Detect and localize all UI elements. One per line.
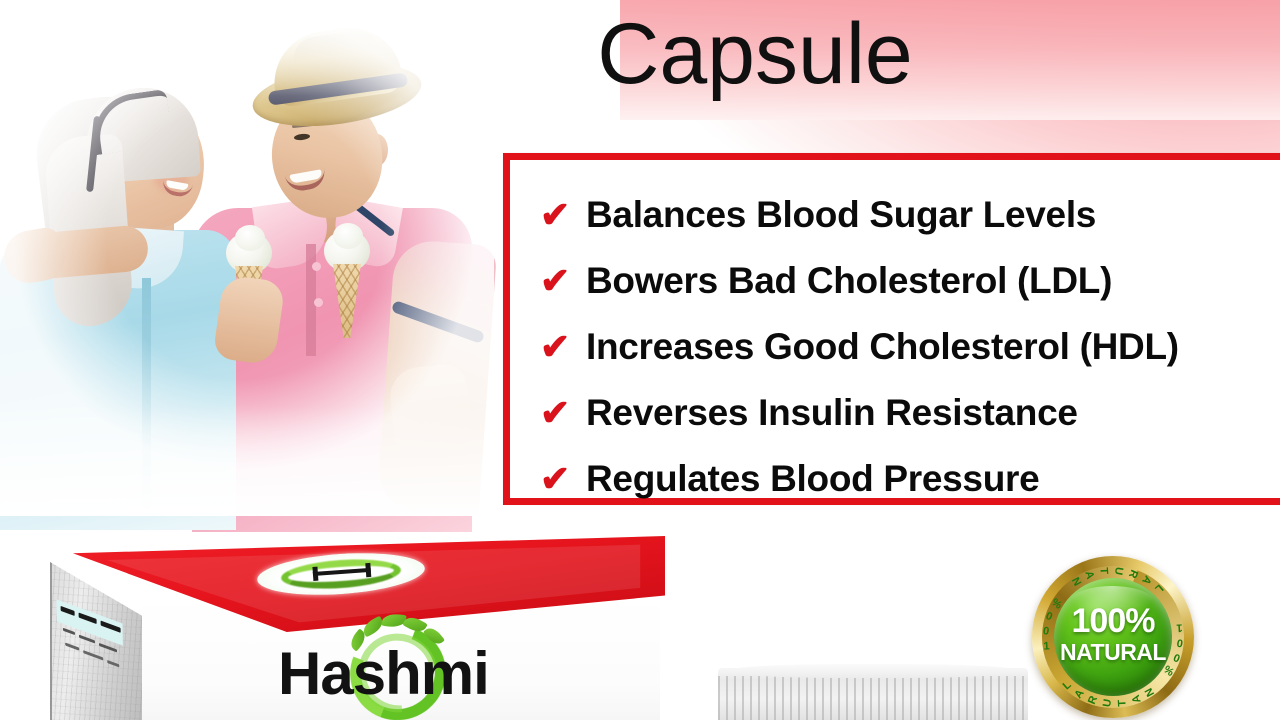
check-icon: ✔ [540, 192, 586, 238]
man-shirt-button-bottom [314, 298, 323, 307]
seal-ring-char: 1 [1176, 621, 1183, 633]
benefits-panel: ✔ Balances Blood Sugar Levels ✔ Bowers B… [503, 153, 1280, 505]
benefit-label: Regulates Blood Pressure [586, 454, 1039, 504]
seal-ring-char: 1 [1043, 640, 1050, 652]
bottle-cap-top-rim [726, 664, 1020, 678]
list-item: ✔ Bowers Bad Cholesterol (LDL) [540, 256, 1280, 314]
seal-percent: 100% [1054, 604, 1172, 638]
ice-cream-scoop-top [333, 223, 363, 249]
hashmi-logo: Hashmi [278, 622, 508, 720]
check-icon: ✔ [540, 258, 586, 304]
brand-name: Hashmi [278, 642, 508, 706]
benefit-label: Increases Good Cholesterol (HDL) [586, 322, 1179, 372]
benefit-label: Reverses Insulin Resistance [586, 388, 1078, 438]
woman-shirt-placket [142, 278, 151, 508]
man-hand [387, 362, 474, 462]
urdu-stroke [63, 628, 75, 635]
seal-ring-char: U [1112, 566, 1125, 576]
urdu-stroke [79, 635, 95, 644]
seal-center-text: 100% NATURAL [1054, 604, 1172, 664]
couple-photo [0, 16, 494, 516]
benefit-label: Bowers Bad Cholesterol (LDL) [586, 256, 1112, 306]
product-box: Hashmi [45, 536, 665, 720]
bottle-cap-ribs [718, 676, 1028, 720]
urdu-stroke [83, 650, 103, 660]
promo-banner: DiaboSoft Capsule [0, 0, 1280, 720]
list-item: ✔ Regulates Blood Pressure [540, 454, 1280, 512]
seal-ring-char: T [1116, 700, 1128, 707]
urdu-stroke [107, 660, 119, 667]
benefit-label: Balances Blood Sugar Levels [586, 190, 1096, 240]
check-icon: ✔ [540, 324, 586, 370]
natural-seal-badge: 100%NATURAL100%NATURAL ★ ★ 100% NATURAL [1032, 556, 1194, 718]
list-item: ✔ Increases Good Cholesterol (HDL) [540, 322, 1280, 380]
seal-ring-char: T [1097, 567, 1109, 574]
ice-cream-scoop-top [235, 225, 265, 251]
benefits-list: ✔ Balances Blood Sugar Levels ✔ Bowers B… [510, 160, 1280, 512]
urdu-stroke [65, 643, 79, 651]
man-shirt-button-top [312, 262, 321, 271]
list-item: ✔ Balances Blood Sugar Levels [540, 190, 1280, 248]
list-item: ✔ Reverses Insulin Resistance [540, 388, 1280, 446]
check-icon: ✔ [540, 390, 586, 436]
seal-green-center: 100% NATURAL [1054, 578, 1172, 696]
check-icon: ✔ [540, 456, 586, 502]
seal-word: NATURAL [1054, 641, 1172, 664]
urdu-stroke [99, 643, 117, 653]
